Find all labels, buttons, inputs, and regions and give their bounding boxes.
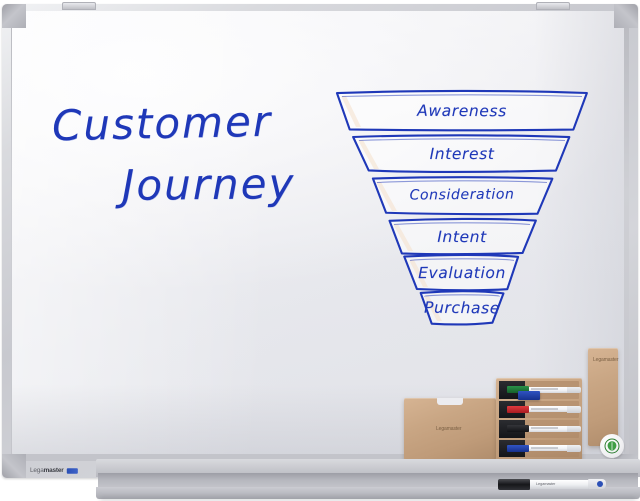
tray-marker-barrel: Legamaster: [530, 480, 588, 489]
funnel-band-label-2: Interest: [430, 145, 495, 163]
marker-red[interactable]: [507, 406, 581, 413]
marker-slot-2[interactable]: [499, 401, 579, 419]
marker-barrel: [529, 426, 567, 432]
marker-slot-4[interactable]: [499, 440, 579, 458]
wall-mount-clip-right: [536, 2, 570, 10]
refill-box[interactable]: Legamaster: [588, 348, 618, 446]
marker-end: [567, 387, 581, 394]
brand-name-bold: master: [44, 467, 64, 473]
handwritten-title-line-1: Customer: [52, 97, 273, 151]
marker-end: [567, 406, 581, 413]
brand-color-swatch: [66, 468, 77, 474]
handwritten-title-line-2: Journey: [122, 159, 296, 210]
marker-end: [567, 445, 581, 452]
frame-corner-bottom-left: [2, 454, 26, 478]
marker-cap-blue-inset[interactable]: [518, 391, 540, 400]
marker-slot-3[interactable]: [499, 420, 579, 438]
tray-marker-tip: [588, 479, 606, 489]
tray-drop-shadow: [100, 497, 636, 501]
brand-wordmark: Legamaster: [30, 467, 64, 473]
marker-barrel: [529, 445, 567, 451]
funnel-band-label-4: Intent: [437, 228, 487, 246]
wall-mount-clip-left: [62, 2, 96, 10]
eraser-notch: [437, 398, 463, 405]
marker-barrel: [529, 406, 567, 412]
funnel-diagram: AwarenessInterestConsiderationIntentEval…: [330, 85, 595, 325]
whiteboard-eraser[interactable]: Legamaster: [404, 398, 496, 460]
brand-name-light: Lega: [30, 467, 44, 473]
funnel-svg: [330, 85, 595, 330]
funnel-band-label-1: Awareness: [417, 102, 507, 120]
marker-cap-black: [507, 425, 529, 432]
marker-cap-blue: [507, 445, 529, 452]
eco-certification-badge: [600, 434, 624, 458]
tray-marker[interactable]: Legamaster: [498, 478, 606, 490]
tray-marker-label: Legamaster: [536, 481, 555, 486]
frame-corner-top-right: [614, 4, 638, 28]
marker-cap-red: [507, 406, 529, 413]
refill-box-brand-logo: Legamaster: [593, 357, 618, 363]
tray-marker-cap: [498, 479, 530, 490]
marker-end: [567, 426, 581, 433]
pen-tray[interactable]: Legamaster: [96, 457, 640, 501]
eco-leaf-icon: [604, 438, 620, 454]
funnel-band-label-5: Evaluation: [418, 264, 506, 282]
frame-corner-top-left: [2, 4, 26, 28]
funnel-band-label-3: Consideration: [409, 186, 514, 203]
funnel-band-label-6: Purchase: [424, 299, 500, 318]
whiteboard-scene: Customer Journey AwarenessInterestConsid…: [0, 0, 640, 501]
tray-marker-color-dot: [597, 481, 603, 487]
eraser-brand-logo: Legamaster: [436, 426, 461, 432]
board-brand-logo: Legamaster: [30, 467, 77, 473]
marker-blue[interactable]: [507, 445, 581, 452]
marker-black[interactable]: [507, 425, 581, 432]
